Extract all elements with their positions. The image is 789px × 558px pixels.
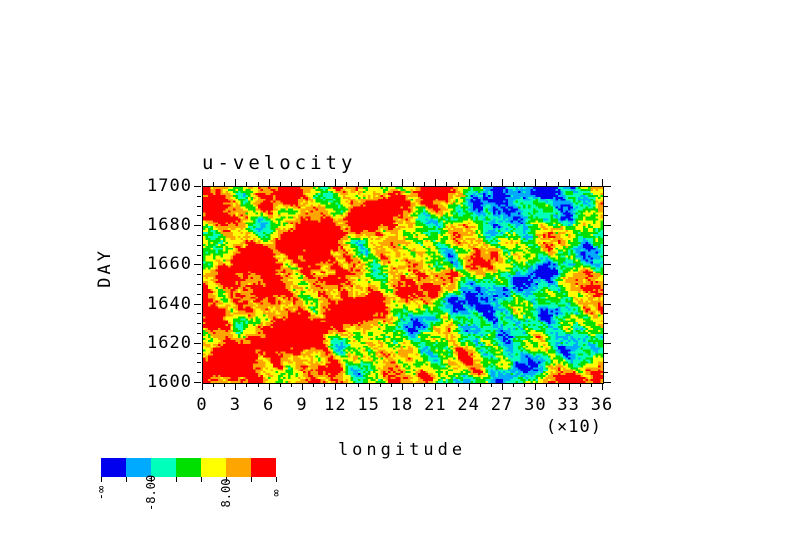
axis-tick [224, 182, 225, 186]
axis-tick [604, 294, 608, 295]
y-tick-label: 1660 [144, 254, 192, 274]
colorbar-label: -∞ [94, 475, 108, 511]
axis-tick [391, 383, 392, 387]
axis-tick [604, 264, 611, 265]
x-tick-label: 0 [196, 395, 207, 415]
axis-tick [346, 383, 347, 387]
axis-tick [197, 284, 201, 285]
axis-tick [604, 255, 608, 256]
axis-tick [413, 182, 414, 186]
axis-tick [604, 215, 608, 216]
axis-tick [280, 182, 281, 186]
axis-tick [380, 383, 381, 387]
axis-tick [604, 343, 611, 344]
axis-tick [269, 383, 270, 390]
axis-tick [335, 383, 336, 390]
axis-tick [269, 179, 270, 186]
axis-tick [224, 383, 225, 387]
y-axis-title: DAY [95, 248, 115, 288]
x-axis-title: longitude [338, 440, 466, 460]
axis-tick [604, 323, 608, 324]
axis-tick [335, 179, 336, 186]
axis-tick [246, 383, 247, 387]
axis-tick [369, 179, 370, 186]
axis-tick [458, 182, 459, 186]
axis-tick [546, 383, 547, 387]
axis-tick [604, 333, 608, 334]
axis-tick [604, 382, 611, 383]
axis-tick [604, 313, 608, 314]
axis-tick [435, 383, 436, 390]
colorbar-label: -8.00 [144, 475, 158, 511]
axis-tick [369, 383, 370, 390]
x-tick-label: 27 [491, 395, 513, 415]
axis-tick [197, 294, 201, 295]
x-tick-label: 36 [591, 395, 613, 415]
colorbar-ticks [101, 477, 276, 482]
heatmap-field [203, 187, 603, 383]
axis-tick [604, 362, 608, 363]
axis-tick [291, 383, 292, 387]
axis-tick [602, 179, 603, 186]
colorbar-tick [201, 477, 202, 482]
axis-tick [469, 179, 470, 186]
y-tick-label: 1680 [144, 215, 192, 235]
colorbar-band [176, 458, 201, 477]
y-tick-label: 1640 [144, 294, 192, 314]
axis-tick [480, 383, 481, 387]
colorbar [101, 458, 276, 477]
x-tick-label: 33 [557, 395, 579, 415]
x-axis-multiplier: (×10) [546, 417, 602, 437]
axis-tick [413, 383, 414, 387]
axis-tick [402, 179, 403, 186]
axis-tick [194, 382, 201, 383]
axis-tick [524, 383, 525, 387]
axis-tick [535, 179, 536, 186]
axis-tick [358, 383, 359, 387]
axis-tick [604, 304, 611, 305]
axis-tick [569, 383, 570, 390]
axis-tick [258, 182, 259, 186]
axis-tick [580, 182, 581, 186]
axis-tick [194, 343, 201, 344]
axis-tick [491, 383, 492, 387]
axis-tick [197, 333, 201, 334]
x-tick-label: 6 [263, 395, 274, 415]
axis-tick [380, 182, 381, 186]
axis-tick [302, 383, 303, 390]
x-tick-label: 24 [457, 395, 479, 415]
axis-tick [197, 362, 201, 363]
axis-tick [446, 182, 447, 186]
axis-tick [458, 383, 459, 387]
axis-tick [480, 182, 481, 186]
x-tick-label: 12 [324, 395, 346, 415]
axis-tick [313, 182, 314, 186]
axis-tick [604, 284, 608, 285]
axis-tick [194, 225, 201, 226]
axis-tick [197, 274, 201, 275]
axis-tick [235, 383, 236, 390]
axis-tick [346, 182, 347, 186]
axis-tick [358, 182, 359, 186]
axis-tick [197, 372, 201, 373]
page-title: u-velocity [202, 152, 356, 174]
axis-tick [604, 245, 608, 246]
axis-tick [604, 196, 608, 197]
axis-tick [213, 182, 214, 186]
axis-tick [558, 383, 559, 387]
axis-tick [604, 235, 608, 236]
axis-tick [604, 206, 608, 207]
axis-tick [604, 186, 611, 187]
axis-tick [280, 383, 281, 387]
axis-tick [235, 179, 236, 186]
x-tick-label: 9 [296, 395, 307, 415]
axis-tick [469, 383, 470, 390]
axis-tick [197, 196, 201, 197]
axis-tick [513, 182, 514, 186]
axis-tick [435, 179, 436, 186]
y-tick-label: 1700 [144, 176, 192, 196]
x-tick-label: 3 [230, 395, 241, 415]
axis-tick [602, 383, 603, 390]
axis-tick [491, 182, 492, 186]
axis-tick [604, 225, 611, 226]
axis-tick [194, 264, 201, 265]
axis-tick [202, 179, 203, 186]
axis-tick [591, 182, 592, 186]
axis-tick [446, 383, 447, 387]
x-tick-label: 15 [357, 395, 379, 415]
axis-tick [535, 383, 536, 390]
axis-tick [604, 372, 608, 373]
colorbar-tick [251, 477, 252, 482]
axis-tick [197, 313, 201, 314]
axis-tick [324, 383, 325, 387]
axis-tick [502, 383, 503, 390]
axis-tick [424, 383, 425, 387]
axis-tick [580, 383, 581, 387]
axis-tick [591, 383, 592, 387]
axis-tick [197, 353, 201, 354]
axis-tick [513, 383, 514, 387]
axis-tick [546, 182, 547, 186]
axis-tick [197, 323, 201, 324]
axis-tick [258, 383, 259, 387]
axis-tick [502, 179, 503, 186]
axis-tick [246, 182, 247, 186]
axis-tick [402, 383, 403, 390]
axis-tick [524, 182, 525, 186]
axis-tick [197, 206, 201, 207]
axis-tick [558, 182, 559, 186]
colorbar-tick [126, 477, 127, 482]
axis-tick [194, 304, 201, 305]
colorbar-label: ∞ [269, 475, 283, 511]
axis-tick [197, 245, 201, 246]
y-tick-label: 1600 [144, 372, 192, 392]
axis-tick [604, 353, 608, 354]
x-tick-label: 21 [424, 395, 446, 415]
y-tick-label: 1620 [144, 333, 192, 353]
axis-tick [313, 383, 314, 387]
x-tick-label: 18 [391, 395, 413, 415]
axis-tick [202, 383, 203, 390]
axis-tick [604, 274, 608, 275]
axis-tick [194, 186, 201, 187]
axis-tick [569, 179, 570, 186]
axis-tick [424, 182, 425, 186]
plot-canvas: u-velocity 0369121518212427303336 160016… [0, 0, 789, 558]
axis-tick [391, 182, 392, 186]
axis-tick [197, 215, 201, 216]
axis-tick [197, 255, 201, 256]
axis-tick [213, 383, 214, 387]
axis-tick [302, 179, 303, 186]
x-tick-label: 30 [524, 395, 546, 415]
axis-tick [324, 182, 325, 186]
colorbar-tick [176, 477, 177, 482]
heatmap-plot-area [202, 186, 604, 384]
colorbar-label: 8.00 [219, 475, 233, 511]
axis-tick [291, 182, 292, 186]
axis-tick [197, 235, 201, 236]
